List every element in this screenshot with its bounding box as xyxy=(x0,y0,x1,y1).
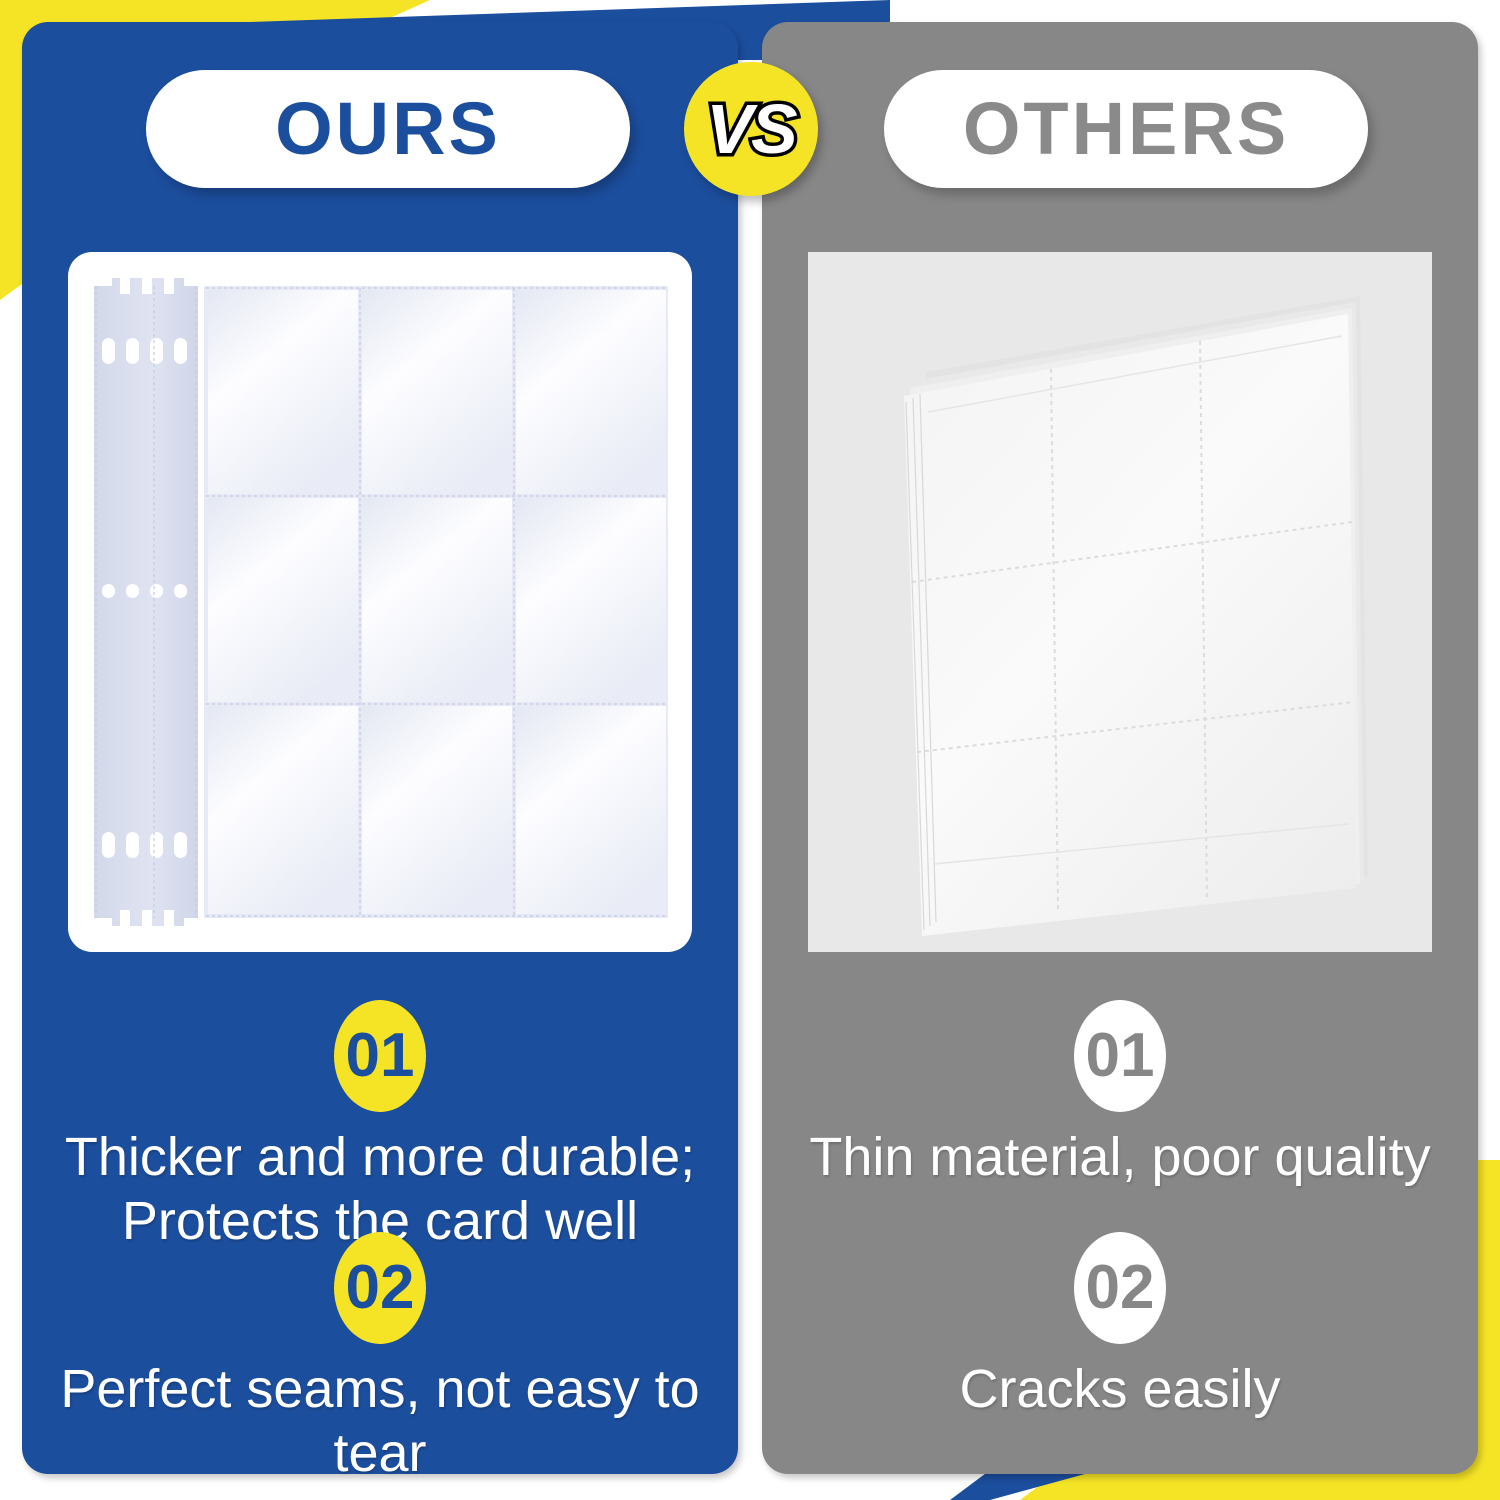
others-feature-1: 01 Thin material, poor quality xyxy=(786,1000,1454,1190)
comparison-infographic: OURS VS OTHERS xyxy=(0,0,1500,1500)
thin-sleeve-stack-illustration xyxy=(808,252,1432,952)
others-header-pill: OTHERS xyxy=(884,70,1368,188)
ours-feature-2-text: Perfect seams, not easy to tear xyxy=(46,1358,714,1485)
vs-badge: VS xyxy=(684,62,818,196)
ours-header-pill: OURS xyxy=(146,70,630,188)
others-feature-2-text: Cracks easily xyxy=(786,1358,1454,1422)
ours-feature-1: 01 Thicker and more durable; Protects th… xyxy=(46,1000,714,1253)
others-product-image xyxy=(808,252,1432,952)
binder-spine-strip xyxy=(94,278,198,926)
binder-page-illustration xyxy=(68,252,692,952)
ours-product-image xyxy=(68,252,692,952)
ours-label: OURS xyxy=(275,92,501,166)
ours-feature-2-badge: 02 xyxy=(334,1232,426,1344)
ours-feature-1-badge: 01 xyxy=(334,1000,426,1112)
card-pocket-grid xyxy=(204,286,668,918)
others-label: OTHERS xyxy=(963,92,1289,166)
others-feature-1-badge: 01 xyxy=(1074,1000,1166,1112)
others-feature-2-badge: 02 xyxy=(1074,1232,1166,1344)
vs-label: VS xyxy=(706,94,795,164)
others-feature-1-text: Thin material, poor quality xyxy=(786,1126,1454,1190)
right-edge-yellow-accent xyxy=(1478,1160,1500,1410)
ours-feature-2: 02 Perfect seams, not easy to tear xyxy=(46,1232,714,1485)
others-feature-2: 02 Cracks easily xyxy=(786,1232,1454,1422)
